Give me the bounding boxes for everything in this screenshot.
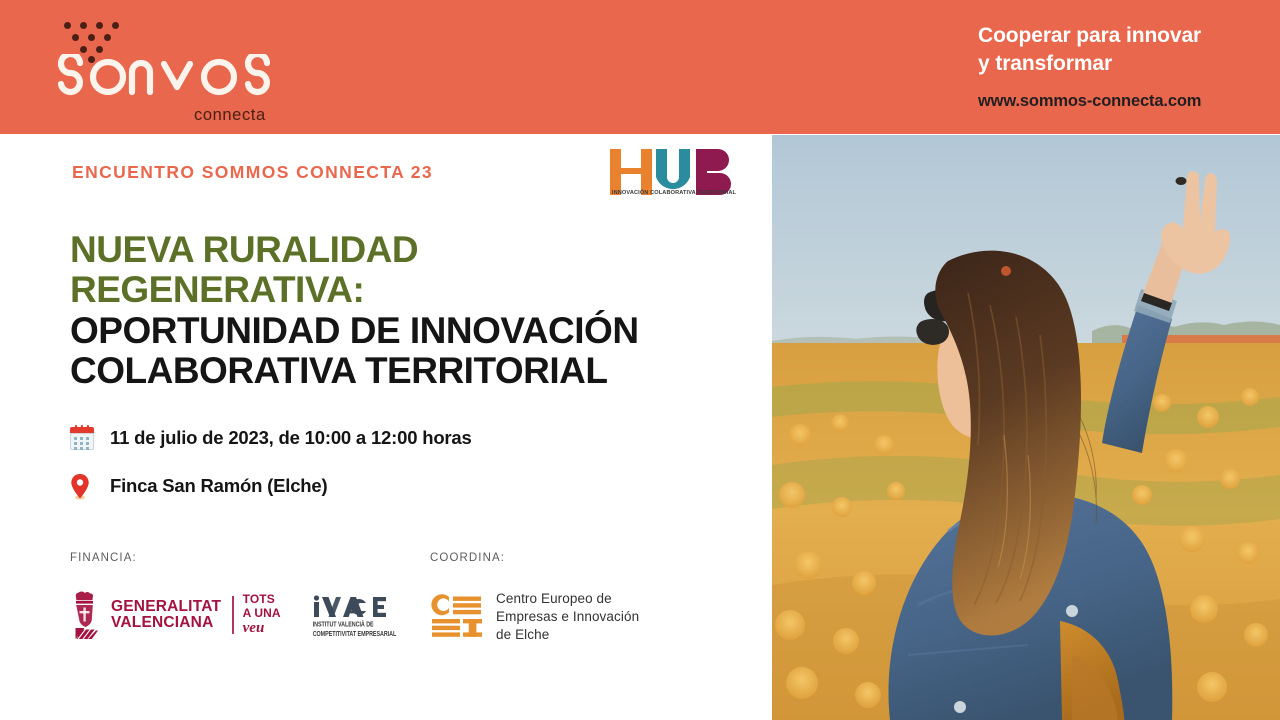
sommos-sub-label: connecta <box>194 106 266 125</box>
title-line-4: COLABORATIVA TERRITORIAL <box>70 351 750 391</box>
coordina-column: COORDINA: <box>430 552 639 643</box>
ceei-logo[interactable]: Centro Europeo de Empresas e Innovación … <box>430 590 639 643</box>
event-title: NUEVA RURALIDAD REGENERATIVA: OPORTUNIDA… <box>70 230 750 391</box>
content-panel: ENCUENTRO SOMMOS CONNECTA 23 INNOVACIÓN … <box>0 134 772 720</box>
ivace-sub-line-1: INSTITUT VALENCIÀ DE <box>313 621 397 630</box>
calendar-icon <box>70 427 110 450</box>
hub-logo <box>608 147 740 211</box>
gva-divider <box>232 596 234 634</box>
tots-a-una-veu-logo: TOTS A UNA veu <box>243 593 281 637</box>
event-location-text: Finca San Ramón (Elche) <box>110 475 327 497</box>
event-eyebrow: ENCUENTRO SOMMOS CONNECTA 23 <box>72 162 433 183</box>
title-line-1: NUEVA RURALIDAD <box>70 230 750 270</box>
gva-line-2: VALENCIANA <box>111 615 221 631</box>
map-pin-icon <box>70 473 110 500</box>
poster-root: connecta Cooperar para innovar y transfo… <box>0 0 1280 720</box>
finance-label: FINANCIA: <box>70 552 396 564</box>
hub-tagline: INNOVACIÓN COLABORATIVA TERRITORIAL <box>608 190 740 196</box>
header-tagline-block: Cooperar para innovar y transformar www.… <box>978 22 1248 111</box>
sommos-wordmark <box>56 54 272 100</box>
hero-photo <box>772 135 1280 720</box>
event-meta: 11 de julio de 2023, de 10:00 a 12:00 ho… <box>70 422 670 518</box>
gva-line-1: GENERALITAT <box>111 599 221 615</box>
ivace-sub-line-2: COMPETITIVITAT EMPRESARIAL <box>313 630 397 639</box>
ceei-monogram-icon <box>430 594 484 639</box>
website-url[interactable]: www.sommos-connecta.com <box>978 92 1248 111</box>
title-line-2: REGENERATIVA: <box>70 270 750 310</box>
tots-line-1: TOTS <box>243 593 281 606</box>
event-location-row: Finca San Ramón (Elche) <box>70 470 670 502</box>
title-line-3: OPORTUNIDAD DE INNOVACIÓN <box>70 311 750 351</box>
slogan-line-1: Cooperar para innovar <box>978 22 1248 50</box>
generalitat-valenciana-logo[interactable]: GENERALITAT VALENCIANA <box>70 590 221 640</box>
ceei-name-line-3: de Elche <box>496 626 639 644</box>
coordina-label: COORDINA: <box>430 552 639 564</box>
slogan-line-2: y transformar <box>978 50 1248 78</box>
header-band: connecta Cooperar para innovar y transfo… <box>0 0 1280 134</box>
finance-column: FINANCIA: <box>70 552 396 640</box>
event-date-row: 11 de julio de 2023, de 10:00 a 12:00 ho… <box>70 422 670 454</box>
ivace-logo[interactable]: INSTITUT VALENCIÀ DE COMPETITIVITAT EMPR… <box>313 595 397 635</box>
ceei-name-line-1: Centro Europeo de <box>496 590 639 608</box>
ceei-name-line-2: Empresas e Innovación <box>496 608 639 626</box>
event-date-text: 11 de julio de 2023, de 10:00 a 12:00 ho… <box>110 427 472 449</box>
sommos-brand[interactable]: connecta <box>56 18 316 123</box>
tots-line-2: A UNA <box>243 607 281 620</box>
tots-line-3: veu <box>243 620 281 637</box>
